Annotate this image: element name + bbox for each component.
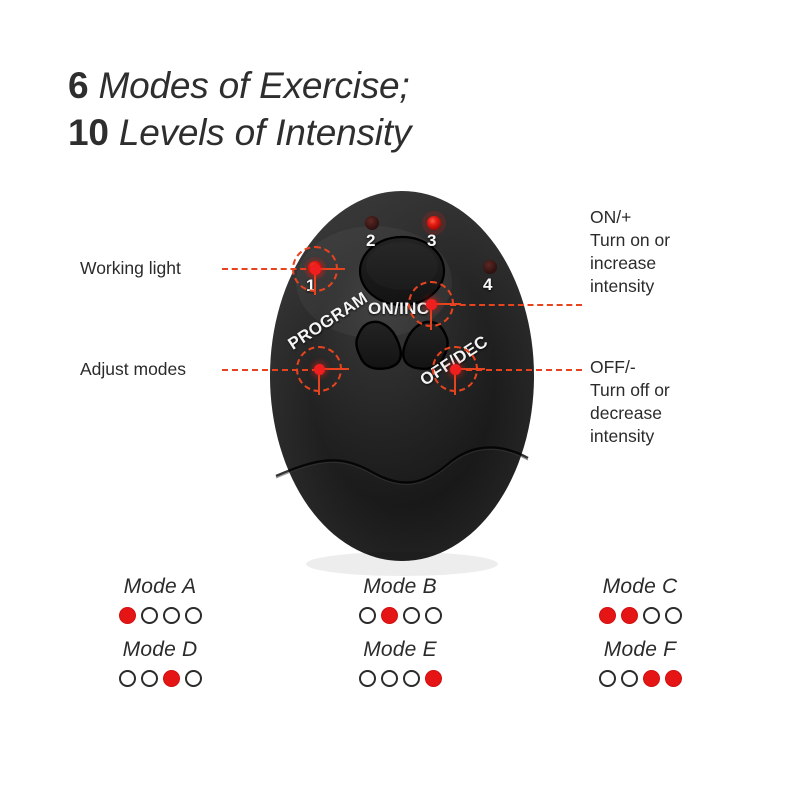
mode-indicator-group [40,670,280,687]
callout-adjust-modes: Adjust modes [80,358,186,381]
mode-indicator-off [185,670,202,687]
callout-off-minus-title: OFF/- [590,356,780,379]
mode-indicator-off [141,607,158,624]
mode-indicator-off [163,607,180,624]
headline-modes-text: Modes of Exercise; [88,65,409,106]
modes-row-2: Mode DMode EMode F [40,638,760,701]
callout-marker-working-light [292,246,338,292]
headline-modes-count: 6 [68,65,88,106]
mode-indicator-on [381,607,398,624]
callout-on-plus-line-3: intensity [590,275,780,298]
leader-line-on-plus [450,304,582,306]
callout-on-plus-line-1: Turn on or [590,229,780,252]
headline-line-1: 6 Modes of Exercise; [68,62,688,109]
mode-indicator-on [425,670,442,687]
callout-marker-off-minus [432,346,478,392]
led-4 [483,260,497,274]
callout-on-plus-title: ON/+ [590,206,780,229]
mode-label: Mode A [40,575,280,599]
mode-indicator-on [119,607,136,624]
callout-off-minus-line-3: intensity [590,425,780,448]
mode-label: Mode F [520,638,760,662]
headline-levels-count: 10 [68,112,109,153]
mode-indicator-off [141,670,158,687]
product-infographic: 6 Modes of Exercise; 10 Levels of Intens… [0,0,800,800]
mode-indicator-off [185,607,202,624]
mode-cell: Mode E [280,638,520,701]
mode-indicator-off [425,607,442,624]
marker-dot-icon [450,364,461,375]
mode-indicator-off [381,670,398,687]
mode-indicator-group [280,670,520,687]
mode-indicator-off [403,670,420,687]
callout-off-minus: OFF/- Turn off or decrease intensity [590,356,780,448]
headline-levels-text: Levels of Intensity [109,112,411,153]
callout-off-minus-line-2: decrease [590,402,780,425]
marker-dot-icon [314,364,325,375]
mode-indicator-off [621,670,638,687]
mode-label: Mode D [40,638,280,662]
modes-row-1: Mode AMode BMode C [40,575,760,638]
callout-marker-on-plus [408,281,454,327]
mode-indicator-group [40,607,280,624]
mode-label: Mode E [280,638,520,662]
mode-indicator-on [643,670,660,687]
mode-label: Mode C [520,575,760,599]
mode-indicator-off [643,607,660,624]
mode-indicator-on [599,607,616,624]
callout-off-minus-line-1: Turn off or [590,379,780,402]
callout-on-plus: ON/+ Turn on or increase intensity [590,206,780,298]
mode-indicator-group [520,607,760,624]
mode-label: Mode B [280,575,520,599]
mode-cell: Mode C [520,575,760,638]
mode-indicator-group [520,670,760,687]
mode-indicator-off [403,607,420,624]
mode-cell: Mode A [40,575,280,638]
callout-marker-adjust-modes [296,346,342,392]
mode-cell: Mode B [280,575,520,638]
callout-on-plus-line-2: increase [590,252,780,275]
modes-legend: Mode AMode BMode C Mode DMode EMode F [40,575,760,701]
mode-indicator-on [665,670,682,687]
led-2 [365,216,379,230]
mode-indicator-on [163,670,180,687]
mode-cell: Mode F [520,638,760,701]
marker-dot-icon [426,299,437,310]
mode-indicator-group [280,607,520,624]
callout-working-light-title: Working light [80,257,181,280]
mode-indicator-off [665,607,682,624]
mode-indicator-off [359,607,376,624]
marker-dot-icon [310,264,321,275]
mode-indicator-off [359,670,376,687]
mode-indicator-off [119,670,136,687]
headline-line-2: 10 Levels of Intensity [68,109,688,156]
callout-working-light: Working light [80,257,181,280]
page-title: 6 Modes of Exercise; 10 Levels of Intens… [68,62,688,156]
mode-indicator-on [621,607,638,624]
callout-adjust-modes-title: Adjust modes [80,358,186,381]
mode-indicator-off [599,670,616,687]
mode-cell: Mode D [40,638,280,701]
